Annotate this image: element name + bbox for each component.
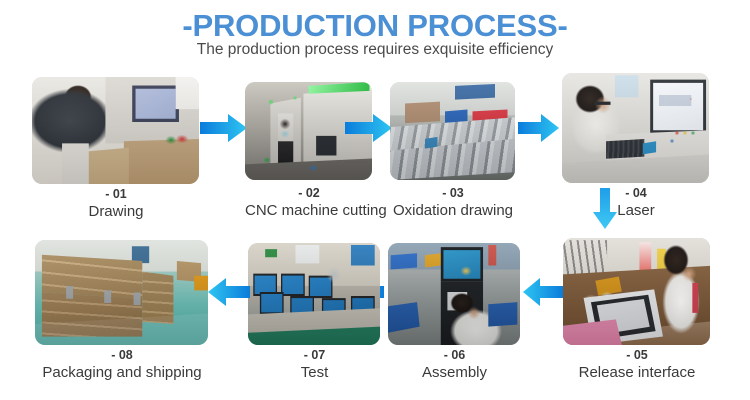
step-number-02: - 02 — [245, 186, 373, 200]
arrow-07-to-08 — [208, 276, 250, 308]
step-photo-release-interface — [563, 238, 710, 345]
page-title: -PRODUCTION PROCESS- — [0, 8, 750, 44]
step-photo-drawing — [32, 77, 199, 184]
step-number-07: - 07 — [248, 348, 381, 362]
arrow-02-to-03 — [345, 112, 393, 144]
arrow-05-to-06 — [523, 276, 563, 308]
step-name-03: Oxidation drawing — [390, 202, 516, 219]
step-photo-oxidation-drawing — [390, 82, 515, 180]
arrow-03-to-04 — [518, 112, 560, 144]
step-number-04: - 04 — [562, 186, 710, 200]
step-name-07: Test — [248, 364, 381, 381]
step-photo-laser — [562, 73, 709, 183]
step-name-08: Packaging and shipping — [35, 364, 209, 381]
step-photo-packaging-and-shipping — [35, 240, 208, 345]
step-name-04: Laser — [562, 202, 710, 219]
step-number-06: - 06 — [388, 348, 521, 362]
step-number-03: - 03 — [390, 186, 516, 200]
step-photo-assembly — [388, 243, 520, 345]
page-subtitle: The production process requires exquisit… — [0, 41, 750, 59]
step-name-05: Release interface — [563, 364, 711, 381]
step-name-02: CNC machine cutting — [245, 202, 373, 219]
step-number-05: - 05 — [563, 348, 711, 362]
step-name-06: Assembly — [388, 364, 521, 381]
step-name-01: Drawing — [32, 203, 200, 220]
step-photo-test — [248, 243, 380, 345]
step-number-01: - 01 — [32, 187, 200, 201]
step-number-08: - 08 — [35, 348, 209, 362]
arrow-04-to-05 — [592, 188, 618, 230]
production-process-infographic: -PRODUCTION PROCESS- The production proc… — [0, 0, 750, 400]
arrow-01-to-02 — [200, 112, 248, 144]
